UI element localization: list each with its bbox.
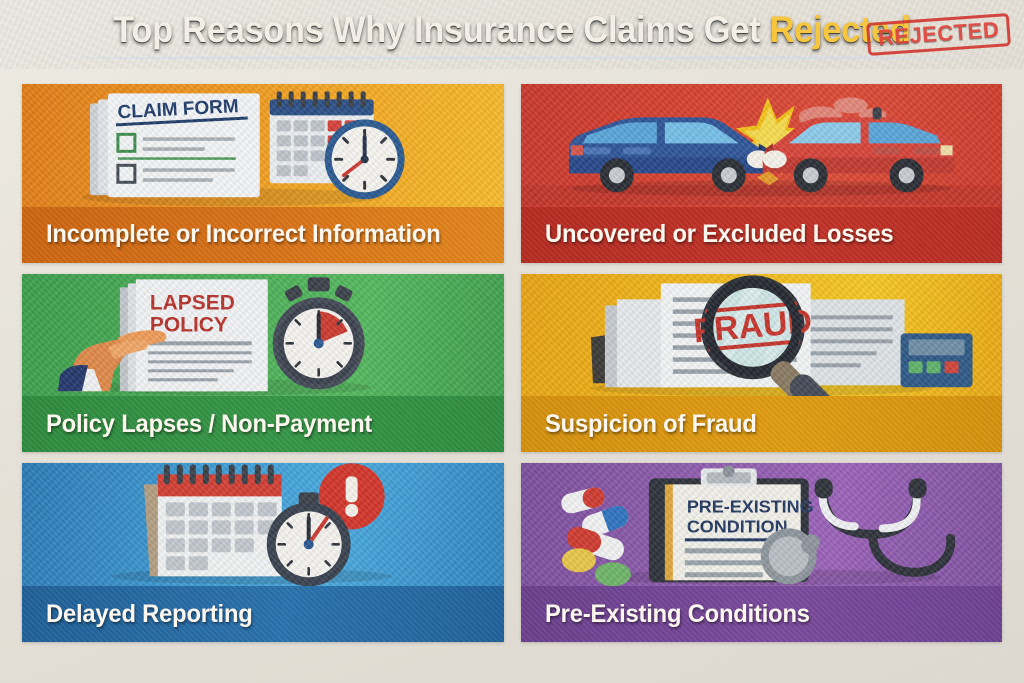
header-divider-rule: [30, 57, 994, 59]
panel-6-caption: Pre-Existing Conditions: [521, 586, 1003, 642]
header-banner: Top Reasons Why Insurance Claims Get Rej…: [0, 0, 1024, 69]
panel-delayed-reporting[interactable]: Delayed Reporting: [22, 463, 504, 642]
panel-1-caption-text: Incomplete or Incorrect Information: [46, 220, 441, 249]
panel-2-artwork-area: [521, 84, 1003, 207]
panel-1-caption: Incomplete or Incorrect Information: [22, 207, 504, 263]
panel-1-artwork-area: CLAIM FORM: [22, 84, 504, 207]
panel-suspicion-of-fraud[interactable]: FRAUD Suspicion of Fraud: [521, 274, 1003, 453]
panel-2-caption-text: Uncovered or Excluded Losses: [545, 220, 893, 249]
panel-incomplete-or-incorrect-information[interactable]: CLAIM FORM: [22, 84, 504, 263]
panel-3-caption-text: Policy Lapses / Non-Payment: [46, 410, 372, 439]
magnifier-fraud-documents-calculator-icon: FRAUD: [521, 274, 1003, 397]
calendar-stopwatch-alert-icon: [22, 463, 504, 586]
panel-policy-lapses-non-payment[interactable]: LAPSED POLICY: [22, 274, 504, 453]
claim-form-calendar-clock-icon: CLAIM FORM: [22, 84, 504, 207]
clipboard-stethoscope-pills-icon: PRE-EXISTING CONDITION: [521, 463, 1003, 586]
reasons-grid: CLAIM FORM: [22, 84, 1002, 642]
panel-pre-existing-conditions[interactable]: PRE-EXISTING CONDITION: [521, 463, 1003, 642]
panel-4-artwork-area: FRAUD: [521, 274, 1003, 397]
svg-text:LAPSED: LAPSED: [150, 291, 235, 314]
panel-4-caption: Suspicion of Fraud: [521, 396, 1003, 452]
panel-6-caption-text: Pre-Existing Conditions: [545, 600, 810, 629]
svg-text:CONDITION: CONDITION: [686, 517, 787, 537]
panel-uncovered-or-excluded-losses[interactable]: Uncovered or Excluded Losses: [521, 84, 1003, 263]
page-title: Top Reasons Why Insurance Claims Get Rej…: [36, 9, 988, 51]
car-collision-icon: [521, 84, 1003, 207]
panel-6-artwork-area: PRE-EXISTING CONDITION: [521, 463, 1003, 586]
panel-2-caption: Uncovered or Excluded Losses: [521, 207, 1003, 263]
panel-3-artwork-area: LAPSED POLICY: [22, 274, 504, 397]
panel-4-caption-text: Suspicion of Fraud: [545, 410, 757, 439]
infographic-root: Top Reasons Why Insurance Claims Get Rej…: [0, 0, 1024, 683]
page-title-main: Top Reasons Why Insurance Claims Get: [113, 9, 769, 50]
svg-text:PRE-EXISTING: PRE-EXISTING: [686, 497, 813, 517]
hand-lapsed-policy-stopwatch-icon: LAPSED POLICY: [22, 274, 504, 397]
panel-5-caption-text: Delayed Reporting: [46, 600, 253, 629]
panel-5-caption: Delayed Reporting: [22, 586, 504, 642]
panel-3-caption: Policy Lapses / Non-Payment: [22, 396, 504, 452]
panel-5-artwork-area: [22, 463, 504, 586]
